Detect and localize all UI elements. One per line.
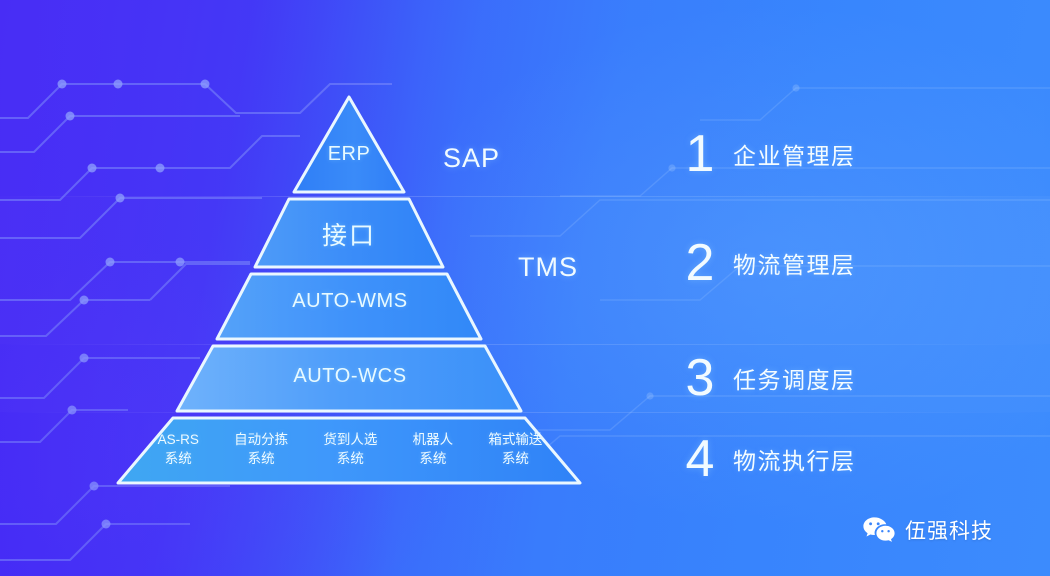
- wechat-account-footer[interactable]: 伍强科技: [862, 515, 993, 545]
- wechat-account-name: 伍强科技: [905, 515, 993, 545]
- pyramid-diagram: [0, 0, 1050, 576]
- wechat-icon: [862, 516, 896, 544]
- pyramid-level-auto-wcs[interactable]: [177, 346, 521, 411]
- pyramid-level-erp[interactable]: [294, 97, 404, 192]
- slide-canvas: ERP 接口 AUTO-WMS AUTO-WCS AS-RS 系统 自动分拣 系…: [0, 0, 1050, 576]
- pyramid-level-jiekou[interactable]: [255, 199, 443, 267]
- pyramid-level-auto-wms[interactable]: [217, 274, 481, 339]
- pyramid-level-base[interactable]: [118, 418, 580, 483]
